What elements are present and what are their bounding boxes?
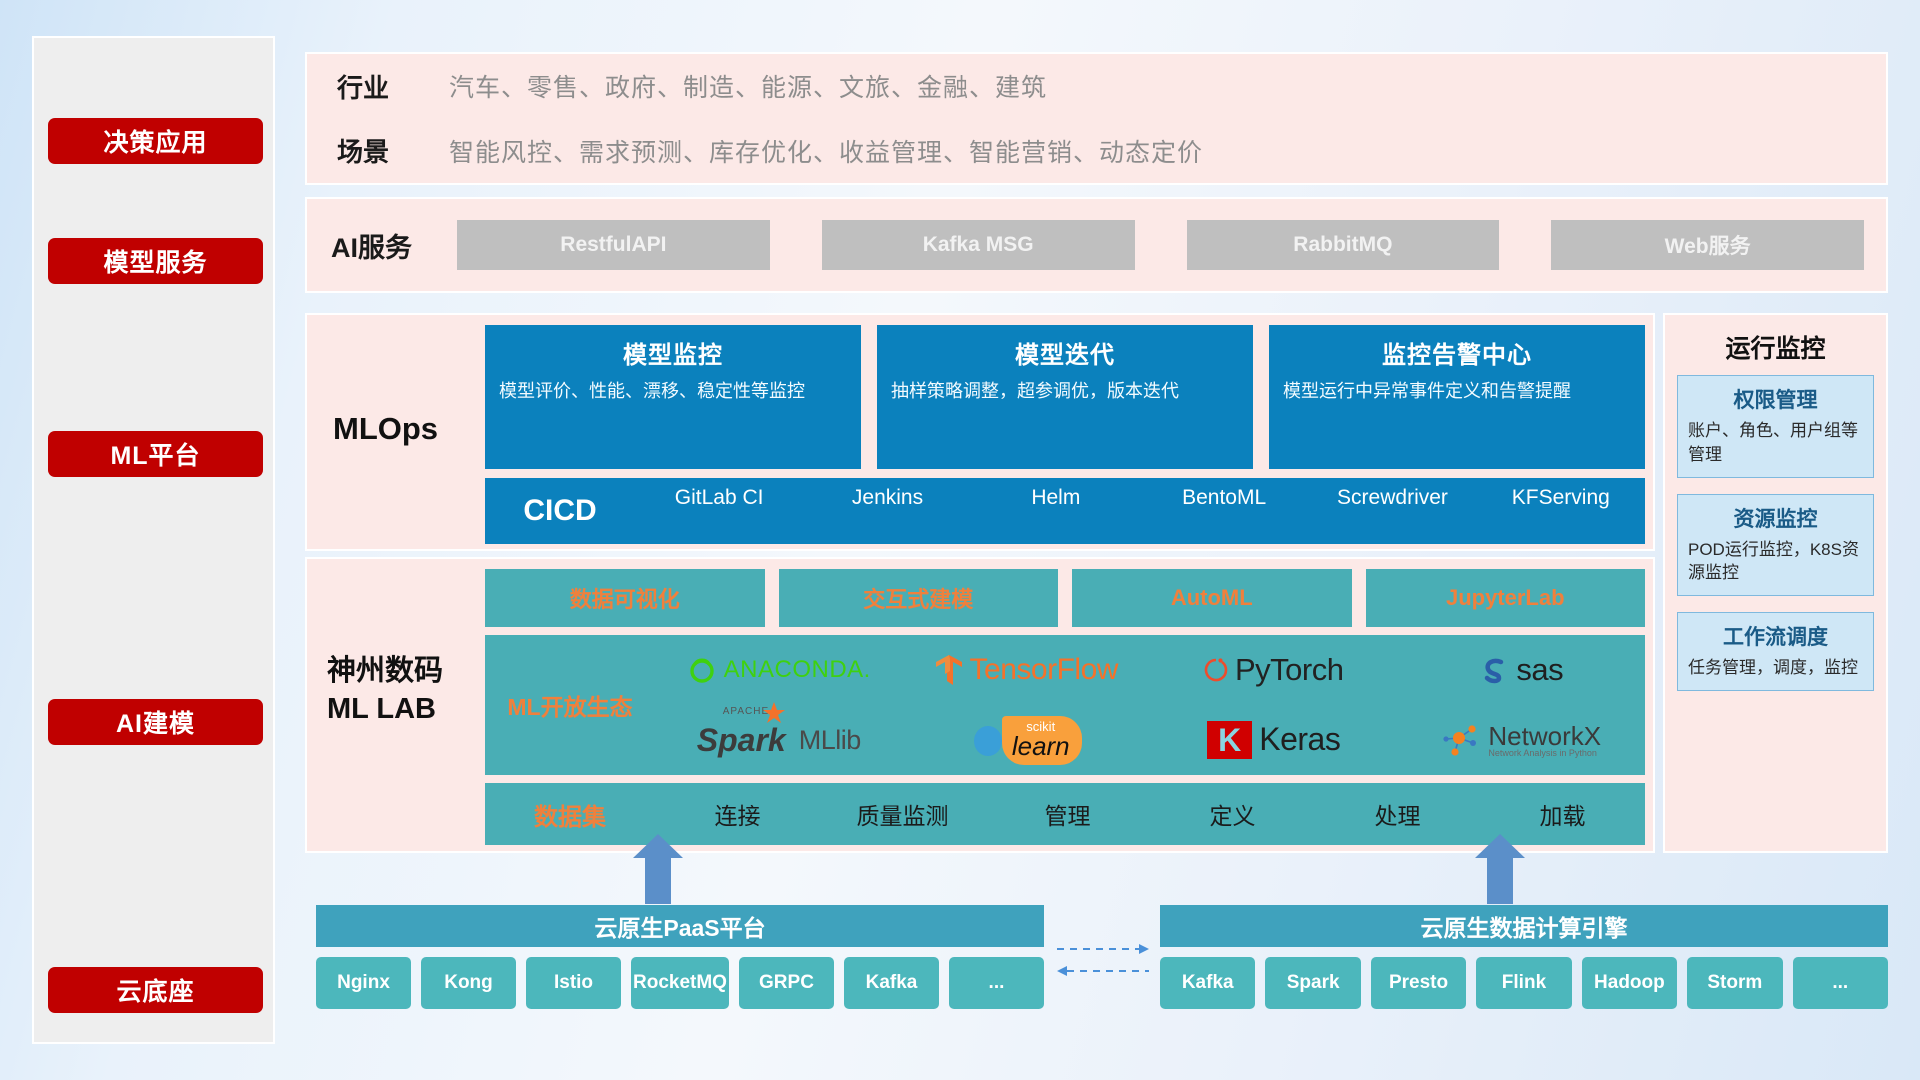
cicd-title: CICD — [485, 494, 635, 528]
monitor-card-resource[interactable]: 资源监控 POD运行监控，K8S资源监控 — [1677, 494, 1874, 597]
pytorch-logo-text: PyTorch — [1235, 652, 1343, 688]
cloud-chip-rocketmq[interactable]: RocketMQ — [631, 957, 729, 1009]
mlops-card-desc: 模型运行中异常事件定义和告警提醒 — [1283, 378, 1631, 404]
sas-logo-text: sas — [1516, 652, 1563, 688]
networkx-logo-text: NetworkX — [1488, 723, 1601, 749]
data-chip-hadoop[interactable]: Hadoop — [1582, 957, 1677, 1009]
anaconda-icon — [687, 655, 717, 685]
cicd-item-gitlab-ci[interactable]: GitLab CI — [635, 487, 803, 535]
cicd-item-screwdriver[interactable]: Screwdriver — [1308, 487, 1476, 535]
industry-scenario-panel: 行业 汽车、零售、政府、制造、能源、文旅、金融、建筑 场景 智能风控、需求预测、… — [305, 52, 1888, 185]
stage-chip-ai-modeling[interactable]: AI建模 — [48, 699, 263, 745]
industry-values: 汽车、零售、政府、制造、能源、文旅、金融、建筑 — [449, 68, 1047, 104]
ai-service-panel: AI服务 RestfulAPI Kafka MSG RabbitMQ Web服务 — [305, 197, 1888, 293]
tensorflow-icon — [935, 654, 963, 686]
cloud-native-data-engine-chip-list: Kafka Spark Presto Flink Hadoop Storm ..… — [1160, 957, 1888, 1009]
cloud-native-data-engine-title: 云原生数据计算引擎 — [1160, 905, 1888, 947]
dataset-item-manage[interactable]: 管理 — [985, 797, 1150, 831]
dataset-item-list: 连接 质量监测 管理 定义 处理 加载 — [655, 797, 1645, 831]
networkx-logo: NetworkX Network Analysis in Python — [1441, 723, 1601, 758]
ai-service-chip-restfulapi[interactable]: RestfulAPI — [457, 220, 770, 270]
cicd-bar: CICD GitLab CI Jenkins Helm BentoML Scre… — [485, 478, 1645, 544]
industry-label: 行业 — [337, 68, 449, 105]
cloud-chip-kafka[interactable]: Kafka — [844, 957, 939, 1009]
ai-service-chip-kafka-msg[interactable]: Kafka MSG — [822, 220, 1135, 270]
tool-tab-data-visualization[interactable]: 数据可视化 — [485, 569, 765, 627]
cicd-item-helm[interactable]: Helm — [972, 487, 1140, 535]
data-chip-presto[interactable]: Presto — [1371, 957, 1466, 1009]
keras-mark-icon: K — [1207, 721, 1252, 760]
stage-chip-model-service[interactable]: 模型服务 — [48, 238, 263, 284]
ai-service-label: AI服务 — [307, 226, 457, 265]
keras-logo-text: Keras — [1259, 721, 1340, 758]
mlops-card-title: 模型迭代 — [891, 335, 1239, 370]
pytorch-icon — [1204, 655, 1228, 685]
monitor-card-title: 权限管理 — [1688, 384, 1863, 414]
spark-logo-text: Spark — [697, 722, 786, 758]
ml-open-ecosystem-label: ML开放生态 — [485, 688, 655, 722]
cloud-chip-more[interactable]: ... — [949, 957, 1044, 1009]
stage-chip-decision-app[interactable]: 决策应用 — [48, 118, 263, 164]
data-chip-spark[interactable]: Spark — [1265, 957, 1360, 1009]
monitor-card-workflow[interactable]: 工作流调度 任务管理，调度，监控 — [1677, 612, 1874, 691]
cloud-chip-nginx[interactable]: Nginx — [316, 957, 411, 1009]
mlops-card-model-iteration[interactable]: 模型迭代 抽样策略调整，超参调优，版本迭代 — [877, 325, 1253, 469]
anaconda-logo-text: ANACONDA. — [724, 656, 871, 684]
tool-tab-jupyterlab[interactable]: JupyterLab — [1366, 569, 1646, 627]
mlops-card-desc: 模型评价、性能、漂移、稳定性等监控 — [499, 378, 847, 404]
dataset-item-load[interactable]: 加载 — [1480, 797, 1645, 831]
runtime-monitoring-panel: 运行监控 权限管理 账户、角色、用户组等管理 资源监控 POD运行监控，K8S资… — [1663, 313, 1888, 853]
scenario-label: 场景 — [337, 132, 449, 169]
runtime-monitoring-title: 运行监控 — [1665, 315, 1886, 375]
cloud-native-data-engine-group: 云原生数据计算引擎 Kafka Spark Presto Flink Hadoo… — [1160, 905, 1888, 1009]
mlops-card-alert-center[interactable]: 监控告警中心 模型运行中异常事件定义和告警提醒 — [1269, 325, 1645, 469]
ai-service-chip-rabbitmq[interactable]: RabbitMQ — [1187, 220, 1500, 270]
keras-logo: K Keras — [1207, 721, 1340, 760]
spark-star-icon — [763, 702, 785, 724]
stage-chip-cloud-base[interactable]: 云底座 — [48, 967, 263, 1013]
cicd-item-jenkins[interactable]: Jenkins — [803, 487, 971, 535]
mlops-card-model-monitoring[interactable]: 模型监控 模型评价、性能、漂移、稳定性等监控 — [485, 325, 861, 469]
ml-lab-label-line1: 神州数码 — [327, 653, 482, 691]
data-chip-kafka[interactable]: Kafka — [1160, 957, 1255, 1009]
mlops-panel: MLOps 模型监控 模型评价、性能、漂移、稳定性等监控 模型迭代 抽样策略调整… — [305, 313, 1655, 551]
monitor-card-title: 工作流调度 — [1688, 621, 1863, 651]
tool-tab-list: 数据可视化 交互式建模 AutoML JupyterLab — [485, 569, 1645, 627]
cloud-native-paas-title: 云原生PaaS平台 — [316, 905, 1044, 947]
mlops-card-desc: 抽样策略调整，超参调优，版本迭代 — [891, 378, 1239, 404]
networkx-tagline: Network Analysis in Python — [1488, 749, 1601, 758]
ml-lab-panel: 神州数码 ML LAB 数据可视化 交互式建模 AutoML JupyterLa… — [305, 557, 1655, 853]
tensorflow-logo: TensorFlow — [935, 653, 1118, 687]
ecosystem-logo-grid: ANACONDA. TensorFlow PyTorch — [655, 635, 1645, 775]
stage-rail: 决策应用 模型服务 ML平台 AI建模 云底座 — [32, 36, 275, 1044]
tensorflow-logo-text: TensorFlow — [970, 653, 1118, 687]
ml-lab-label-line2: ML LAB — [327, 691, 482, 729]
dataset-item-define[interactable]: 定义 — [1150, 797, 1315, 831]
ml-open-ecosystem-band: ML开放生态 ANACONDA. TensorFlow — [485, 635, 1645, 775]
industry-row: 行业 汽车、零售、政府、制造、能源、文旅、金融、建筑 — [307, 54, 1886, 119]
dataset-item-quality-monitor[interactable]: 质量监测 — [820, 797, 985, 831]
cloud-chip-istio[interactable]: Istio — [526, 957, 621, 1009]
anaconda-logo: ANACONDA. — [687, 655, 871, 685]
cicd-item-bentoml[interactable]: BentoML — [1140, 487, 1308, 535]
scikit-blue-blob-icon — [971, 723, 1005, 757]
monitor-card-permission[interactable]: 权限管理 账户、角色、用户组等管理 — [1677, 375, 1874, 478]
monitor-card-desc: 任务管理，调度，监控 — [1688, 656, 1863, 680]
cloud-chip-grpc[interactable]: GRPC — [739, 957, 834, 1009]
scenario-values: 智能风控、需求预测、库存优化、收益管理、智能营销、动态定价 — [449, 133, 1203, 169]
pytorch-logo: PyTorch — [1204, 652, 1343, 688]
ai-service-chip-web[interactable]: Web服务 — [1551, 220, 1864, 270]
monitor-card-desc: 账户、角色、用户组等管理 — [1688, 419, 1863, 467]
mlops-card-title: 模型监控 — [499, 335, 847, 370]
mlops-label: MLOps — [333, 411, 438, 447]
data-chip-more[interactable]: ... — [1793, 957, 1888, 1009]
sas-logo: sas — [1479, 652, 1563, 688]
data-chip-flink[interactable]: Flink — [1476, 957, 1571, 1009]
tool-tab-interactive-modeling[interactable]: 交互式建模 — [779, 569, 1059, 627]
cloud-chip-kong[interactable]: Kong — [421, 957, 516, 1009]
dataset-item-connect[interactable]: 连接 — [655, 797, 820, 831]
dataset-item-process[interactable]: 处理 — [1315, 797, 1480, 831]
mlops-card-title: 监控告警中心 — [1283, 335, 1631, 370]
monitor-card-title: 资源监控 — [1688, 503, 1863, 533]
networkx-graph-icon — [1441, 723, 1481, 757]
ml-lab-label: 神州数码 ML LAB — [327, 653, 482, 728]
cloud-native-paas-chip-list: Nginx Kong Istio RocketMQ GRPC Kafka ... — [316, 957, 1044, 1009]
scikit-learn-logo-text: learn — [1012, 733, 1070, 759]
mlops-card-list: 模型监控 模型评价、性能、漂移、稳定性等监控 模型迭代 抽样策略调整，超参调优，… — [485, 325, 1645, 469]
data-chip-storm[interactable]: Storm — [1687, 957, 1782, 1009]
cicd-item-list: GitLab CI Jenkins Helm BentoML Screwdriv… — [635, 487, 1645, 535]
spark-mllib-logo: APACHE Spark MLlib — [697, 722, 861, 759]
bidirectional-dashed-link-icon — [1055, 940, 1151, 980]
ai-service-chip-list: RestfulAPI Kafka MSG RabbitMQ Web服务 — [457, 220, 1886, 270]
cicd-item-kfserving[interactable]: KFServing — [1477, 487, 1645, 535]
sas-icon — [1479, 655, 1509, 685]
mllib-logo-text: MLlib — [799, 725, 861, 756]
scenario-row: 场景 智能风控、需求预测、库存优化、收益管理、智能营销、动态定价 — [307, 119, 1886, 184]
cloud-native-paas-group: 云原生PaaS平台 Nginx Kong Istio RocketMQ GRPC… — [316, 905, 1044, 1009]
monitor-card-desc: POD运行监控，K8S资源监控 — [1688, 538, 1863, 586]
stage-chip-ml-platform[interactable]: ML平台 — [48, 431, 263, 477]
scikit-learn-logo: scikit learn — [971, 716, 1082, 765]
dataset-title: 数据集 — [485, 797, 655, 832]
tool-tab-automl[interactable]: AutoML — [1072, 569, 1352, 627]
